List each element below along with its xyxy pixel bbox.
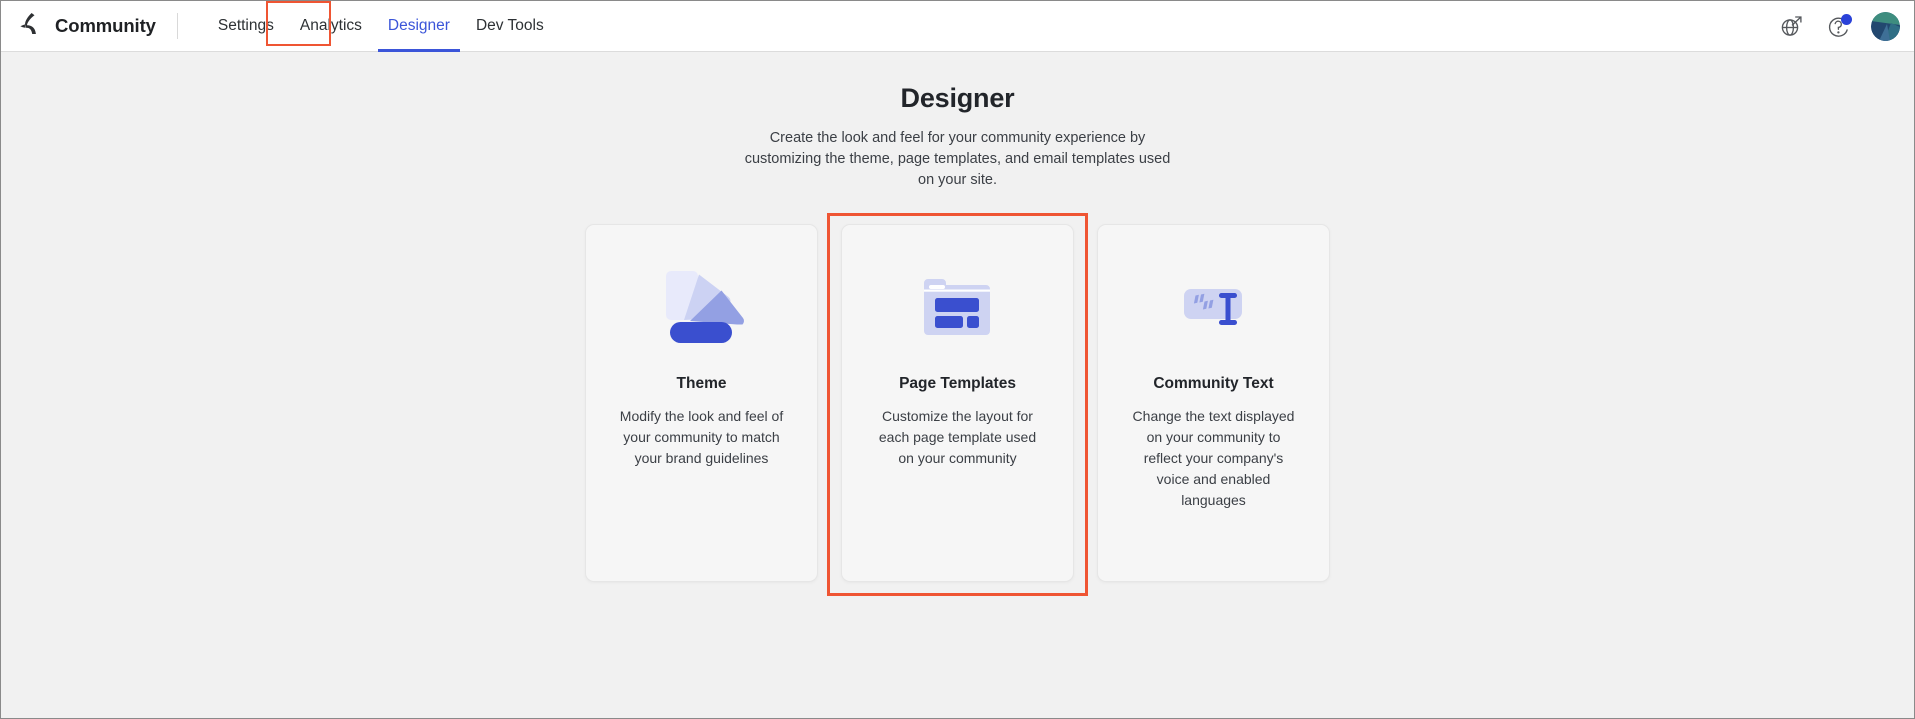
- top-navigation-bar: Community Settings Analytics Designer De…: [1, 1, 1914, 52]
- brand-home-link[interactable]: Community: [1, 1, 156, 51]
- nav-tab-list: Settings Analytics Designer Dev Tools: [205, 1, 557, 52]
- avatar[interactable]: [1871, 12, 1900, 41]
- main-content: Designer Create the look and feel for yo…: [1, 52, 1914, 718]
- color-swatch-fan-glyph: [659, 267, 745, 347]
- card-wrap-theme: Theme Modify the look and feel of your c…: [585, 224, 818, 582]
- globe-external-link-icon[interactable]: [1777, 13, 1805, 41]
- tab-designer[interactable]: Designer: [375, 1, 463, 52]
- card-page-templates[interactable]: Page Templates Customize the layout for …: [841, 224, 1074, 582]
- card-community-text[interactable]: Community Text Change the text displayed…: [1097, 224, 1330, 582]
- tab-analytics[interactable]: Analytics: [287, 1, 375, 52]
- brand-divider: [177, 13, 178, 39]
- card-wrap-community-text: Community Text Change the text displayed…: [1097, 224, 1330, 582]
- card-community-text-description: Change the text displayed on your commun…: [1126, 406, 1301, 511]
- help-notification-badge: [1841, 14, 1852, 25]
- quote-text-cursor-icon: [1171, 247, 1257, 367]
- card-page-templates-title: Page Templates: [899, 375, 1016, 393]
- avatar-image: [1871, 12, 1900, 41]
- color-swatch-fan-icon: [659, 247, 745, 367]
- card-community-text-title: Community Text: [1153, 375, 1273, 393]
- page-subtitle: Create the look and feel for your commun…: [743, 128, 1173, 191]
- tab-analytics-label: Analytics: [300, 17, 362, 35]
- page-layout-glyph: [915, 267, 1001, 347]
- designer-card-grid: Theme Modify the look and feel of your c…: [1, 224, 1914, 582]
- khoros-logo-icon: [15, 11, 45, 41]
- tab-designer-label: Designer: [388, 17, 450, 35]
- brand-name: Community: [55, 15, 156, 37]
- card-wrap-page-templates: Page Templates Customize the layout for …: [841, 224, 1074, 582]
- quote-text-cursor-glyph: [1171, 267, 1257, 347]
- app-window: Community Settings Analytics Designer De…: [0, 0, 1915, 719]
- topbar-actions: [1777, 1, 1900, 52]
- tab-settings[interactable]: Settings: [205, 1, 287, 52]
- page-title: Designer: [1, 83, 1914, 114]
- card-theme[interactable]: Theme Modify the look and feel of your c…: [585, 224, 818, 582]
- card-theme-description: Modify the look and feel of your communi…: [614, 406, 789, 469]
- tab-dev-tools[interactable]: Dev Tools: [463, 1, 557, 52]
- page-layout-icon: [915, 247, 1001, 367]
- card-page-templates-description: Customize the layout for each page templ…: [870, 406, 1045, 469]
- tab-settings-label: Settings: [218, 17, 274, 35]
- globe-external-link-glyph: [1779, 14, 1804, 39]
- tab-dev-tools-label: Dev Tools: [476, 17, 544, 35]
- card-theme-title: Theme: [677, 375, 727, 393]
- help-question-icon[interactable]: [1824, 13, 1852, 41]
